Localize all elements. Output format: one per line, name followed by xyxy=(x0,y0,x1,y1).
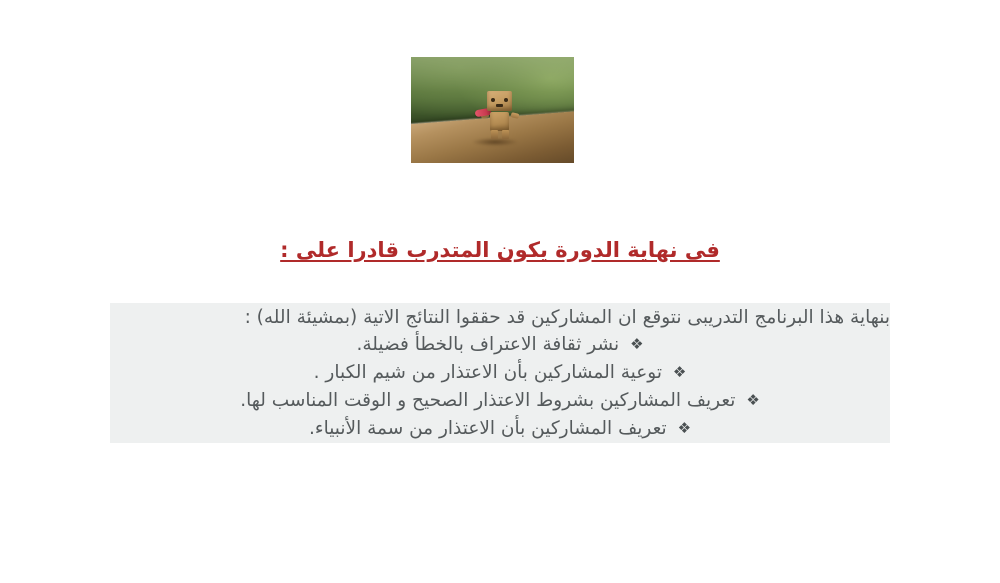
list-item-label: توعية المشاركين بأن الاعتذار من شيم الكب… xyxy=(314,362,662,383)
slide-title-row: فى نهاية الدورة يكون المتدرب قادرا على : xyxy=(118,236,882,264)
robot-leg-left xyxy=(491,130,498,139)
objectives-list: ❖ نشر ثقافة الاعتراف بالخطأ فضيلة. ❖ توع… xyxy=(110,331,890,443)
robot-leg-right xyxy=(502,130,509,139)
cardboard-robot-photo xyxy=(411,57,574,163)
list-item: ❖ تعريف المشاركين بشروط الاعتذار الصحيح … xyxy=(110,387,890,415)
bullet-marker-icon: ❖ xyxy=(746,387,759,414)
objectives-block: بنهاية هذا البرنامج التدريبى نتوقع ان ال… xyxy=(110,303,890,443)
list-item-label: تعريف المشاركين بشروط الاعتذار الصحيح و … xyxy=(240,390,735,411)
bullet-marker-icon: ❖ xyxy=(673,359,686,386)
intro-paragraph: بنهاية هذا البرنامج التدريبى نتوقع ان ال… xyxy=(110,303,890,331)
robot-mouth xyxy=(496,104,503,107)
robot-arm-right xyxy=(510,112,519,119)
list-item-label: تعريف المشاركين بأن الاعتذار من سمة الأن… xyxy=(309,418,667,439)
page-title: فى نهاية الدورة يكون المتدرب قادرا على : xyxy=(280,236,720,264)
list-item: ❖ توعية المشاركين بأن الاعتذار من شيم ال… xyxy=(110,359,890,387)
robot-head xyxy=(487,91,512,111)
list-item-label: نشر ثقافة الاعتراف بالخطأ فضيلة. xyxy=(356,334,619,355)
bullet-marker-icon: ❖ xyxy=(678,415,691,442)
bullet-marker-icon: ❖ xyxy=(630,331,643,358)
robot-eye-right xyxy=(504,98,508,102)
robot-eye-left xyxy=(491,98,495,102)
list-item: ❖ نشر ثقافة الاعتراف بالخطأ فضيلة. xyxy=(110,331,890,359)
robot-figure xyxy=(483,91,517,139)
list-item: ❖ تعريف المشاركين بأن الاعتذار من سمة ال… xyxy=(110,415,890,443)
robot-body xyxy=(490,112,509,131)
slide-canvas: فى نهاية الدورة يكون المتدرب قادرا على :… xyxy=(0,0,1000,583)
